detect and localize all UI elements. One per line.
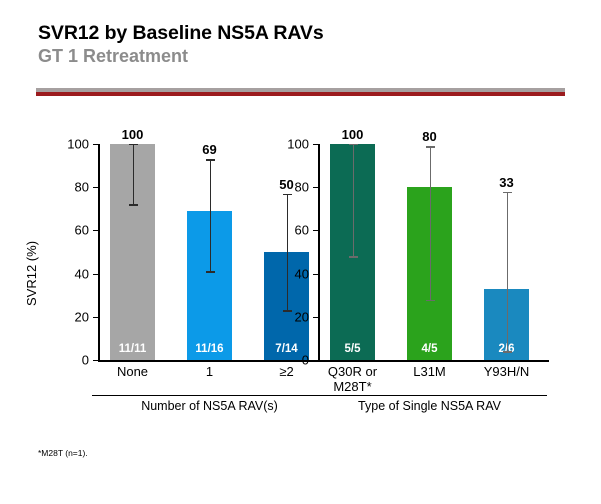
error-cap-left-1-lower: [206, 271, 215, 272]
slide-canvas: SVR12 by Baseline NS5A RAVs GT 1 Retreat…: [0, 0, 601, 504]
y-tick-mark-left: [93, 274, 98, 275]
y-tick-mark-right: [313, 317, 318, 318]
y-tick-label-right: 60: [276, 224, 309, 237]
page-subtitle: GT 1 Retreatment: [38, 46, 578, 68]
y-tick-label-left: 100: [56, 138, 89, 151]
error-cap-right-2-upper: [503, 192, 512, 193]
bar-value-label-right-0: 100: [330, 127, 375, 142]
x-tick-label-right-1: L31M: [389, 365, 470, 380]
page-title: SVR12 by Baseline NS5A RAVs: [38, 22, 578, 44]
error-cap-right-0-lower: [349, 256, 358, 257]
group-bracket-right: [312, 395, 547, 396]
y-tick-label-left: 0: [56, 354, 89, 367]
header-divider: [36, 88, 565, 96]
y-axis-line-left: [98, 144, 100, 360]
bar-denominator-left-1: 11/16: [187, 343, 232, 355]
y-tick-label-left: 40: [56, 267, 89, 280]
y-tick-label-left: 80: [56, 181, 89, 194]
error-bar-left-1: [210, 159, 211, 271]
y-tick-mark-right: [313, 230, 318, 231]
error-bar-left-2: [287, 194, 288, 311]
error-cap-right-1-lower: [426, 300, 435, 301]
y-tick-label-right: 40: [276, 267, 309, 280]
y-tick-mark-left: [93, 230, 98, 231]
error-cap-left-0-upper: [129, 144, 138, 145]
error-bar-right-0: [353, 144, 354, 256]
y-tick-label-right: 100: [276, 138, 309, 151]
bar-denominator-right-0: 5/5: [330, 343, 375, 355]
error-bar-right-1: [430, 146, 431, 299]
y-tick-mark-right: [313, 274, 318, 275]
y-tick-mark-left: [93, 317, 98, 318]
divider-red-stripe: [36, 92, 565, 96]
y-axis-title-left: SVR12 (%): [24, 241, 39, 306]
footnote: *M28T (n=1).: [38, 448, 88, 458]
y-axis-line-right: [318, 144, 320, 360]
error-bar-left-0: [133, 144, 134, 204]
y-tick-label-right: 20: [276, 310, 309, 323]
group-label-left: Number of NS5A RAV(s): [92, 399, 327, 413]
error-cap-left-1-upper: [206, 159, 215, 160]
error-cap-right-2-lower: [503, 351, 512, 352]
group-label-right: Type of Single NS5A RAV: [312, 399, 547, 413]
x-axis-line-right: [318, 360, 549, 362]
header: SVR12 by Baseline NS5A RAVs GT 1 Retreat…: [38, 22, 578, 68]
y-tick-mark-left: [93, 187, 98, 188]
bar-value-label-left-1: 69: [187, 142, 232, 157]
bar-value-label-right-2: 33: [484, 175, 529, 190]
y-tick-label-right: 0: [276, 354, 309, 367]
y-tick-mark-right: [313, 144, 318, 145]
group-bracket-left: [92, 395, 327, 396]
error-bar-right-2: [507, 192, 508, 352]
bar-denominator-right-1: 4/5: [407, 343, 452, 355]
x-tick-label-right-2: Y93H/N: [466, 365, 547, 380]
bar-denominator-left-0: 11/11: [110, 343, 155, 355]
y-tick-label-left: 60: [56, 224, 89, 237]
x-tick-label-right-0: Q30R or M28T*: [312, 365, 393, 395]
x-tick-label-left-1: 1: [169, 365, 250, 380]
error-cap-left-2-upper: [283, 194, 292, 195]
error-cap-left-0-lower: [129, 204, 138, 205]
y-tick-label-left: 20: [56, 310, 89, 323]
y-tick-mark-right: [313, 187, 318, 188]
bar-value-label-left-0: 100: [110, 127, 155, 142]
error-cap-right-0-upper: [349, 144, 358, 145]
x-tick-label-left-0: None: [92, 365, 173, 380]
error-cap-right-1-upper: [426, 146, 435, 147]
y-tick-mark-left: [93, 144, 98, 145]
y-tick-label-right: 80: [276, 181, 309, 194]
bar-value-label-right-1: 80: [407, 129, 452, 144]
